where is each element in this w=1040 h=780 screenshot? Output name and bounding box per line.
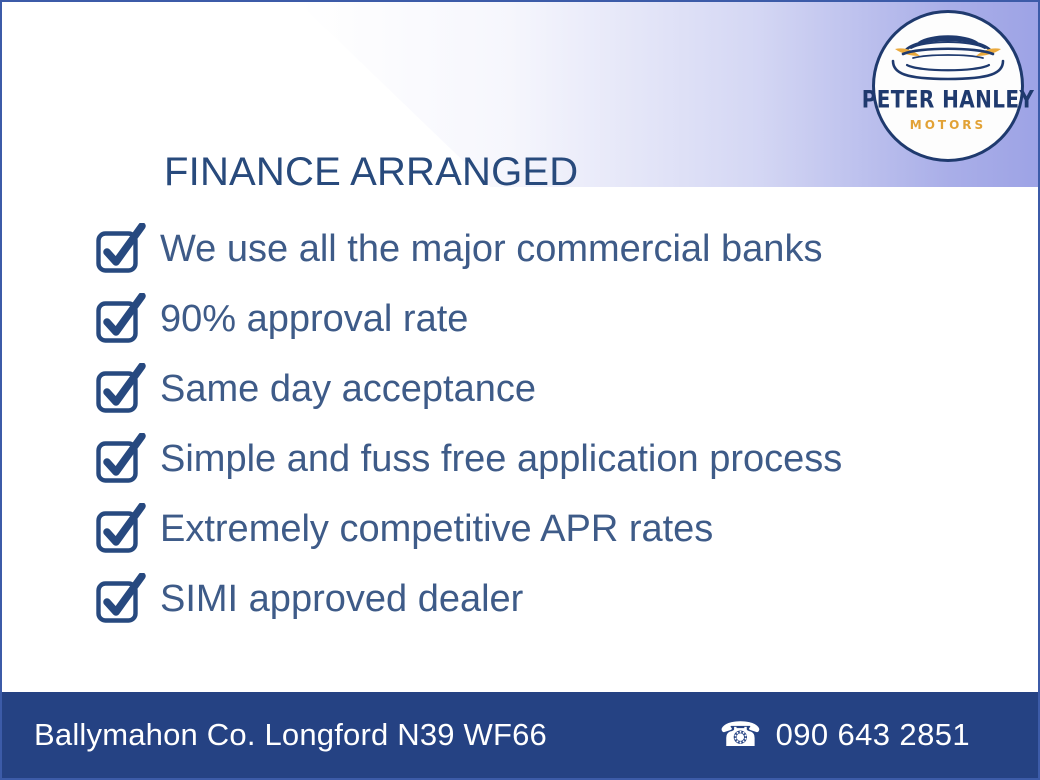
logo-sub-text: MOTORS xyxy=(910,118,986,132)
dealer-address: Ballymahon Co. Longford N39 WF66 xyxy=(34,717,547,753)
list-item-label: SIMI approved dealer xyxy=(160,580,523,618)
checkbox-checked-icon xyxy=(94,433,146,485)
car-silhouette-icon xyxy=(887,27,1009,85)
checkbox-checked-icon xyxy=(94,363,146,415)
logo-name-text: PETER HANLEY xyxy=(862,87,1035,111)
finance-advert-card: PETER HANLEY MOTORS FINANCE ARRANGED We … xyxy=(0,0,1040,780)
page-title: FINANCE ARRANGED xyxy=(164,150,578,195)
list-item-label: Extremely competitive APR rates xyxy=(160,510,713,548)
list-item-label: 90% approval rate xyxy=(160,300,468,338)
list-item: We use all the major commercial banks xyxy=(94,214,842,284)
list-item-label: Same day acceptance xyxy=(160,370,536,408)
checkbox-checked-icon xyxy=(94,503,146,555)
list-item: SIMI approved dealer xyxy=(94,564,842,634)
feature-list: We use all the major commercial banks 90… xyxy=(94,214,842,634)
telephone-icon: ☎ xyxy=(719,718,761,752)
list-item: Same day acceptance xyxy=(94,354,842,424)
checkbox-checked-icon xyxy=(94,223,146,275)
peter-hanley-motors-logo: PETER HANLEY MOTORS xyxy=(872,10,1024,162)
phone-contact[interactable]: ☎ 090 643 2851 xyxy=(719,717,1006,753)
list-item: Simple and fuss free application process xyxy=(94,424,842,494)
checkbox-checked-icon xyxy=(94,293,146,345)
phone-number[interactable]: 090 643 2851 xyxy=(776,717,970,753)
list-item: 90% approval rate xyxy=(94,284,842,354)
contact-footer-bar: Ballymahon Co. Longford N39 WF66 ☎ 090 6… xyxy=(2,692,1038,778)
list-item-label: Simple and fuss free application process xyxy=(160,440,842,478)
list-item-label: We use all the major commercial banks xyxy=(160,230,822,268)
list-item: Extremely competitive APR rates xyxy=(94,494,842,564)
checkbox-checked-icon xyxy=(94,573,146,625)
